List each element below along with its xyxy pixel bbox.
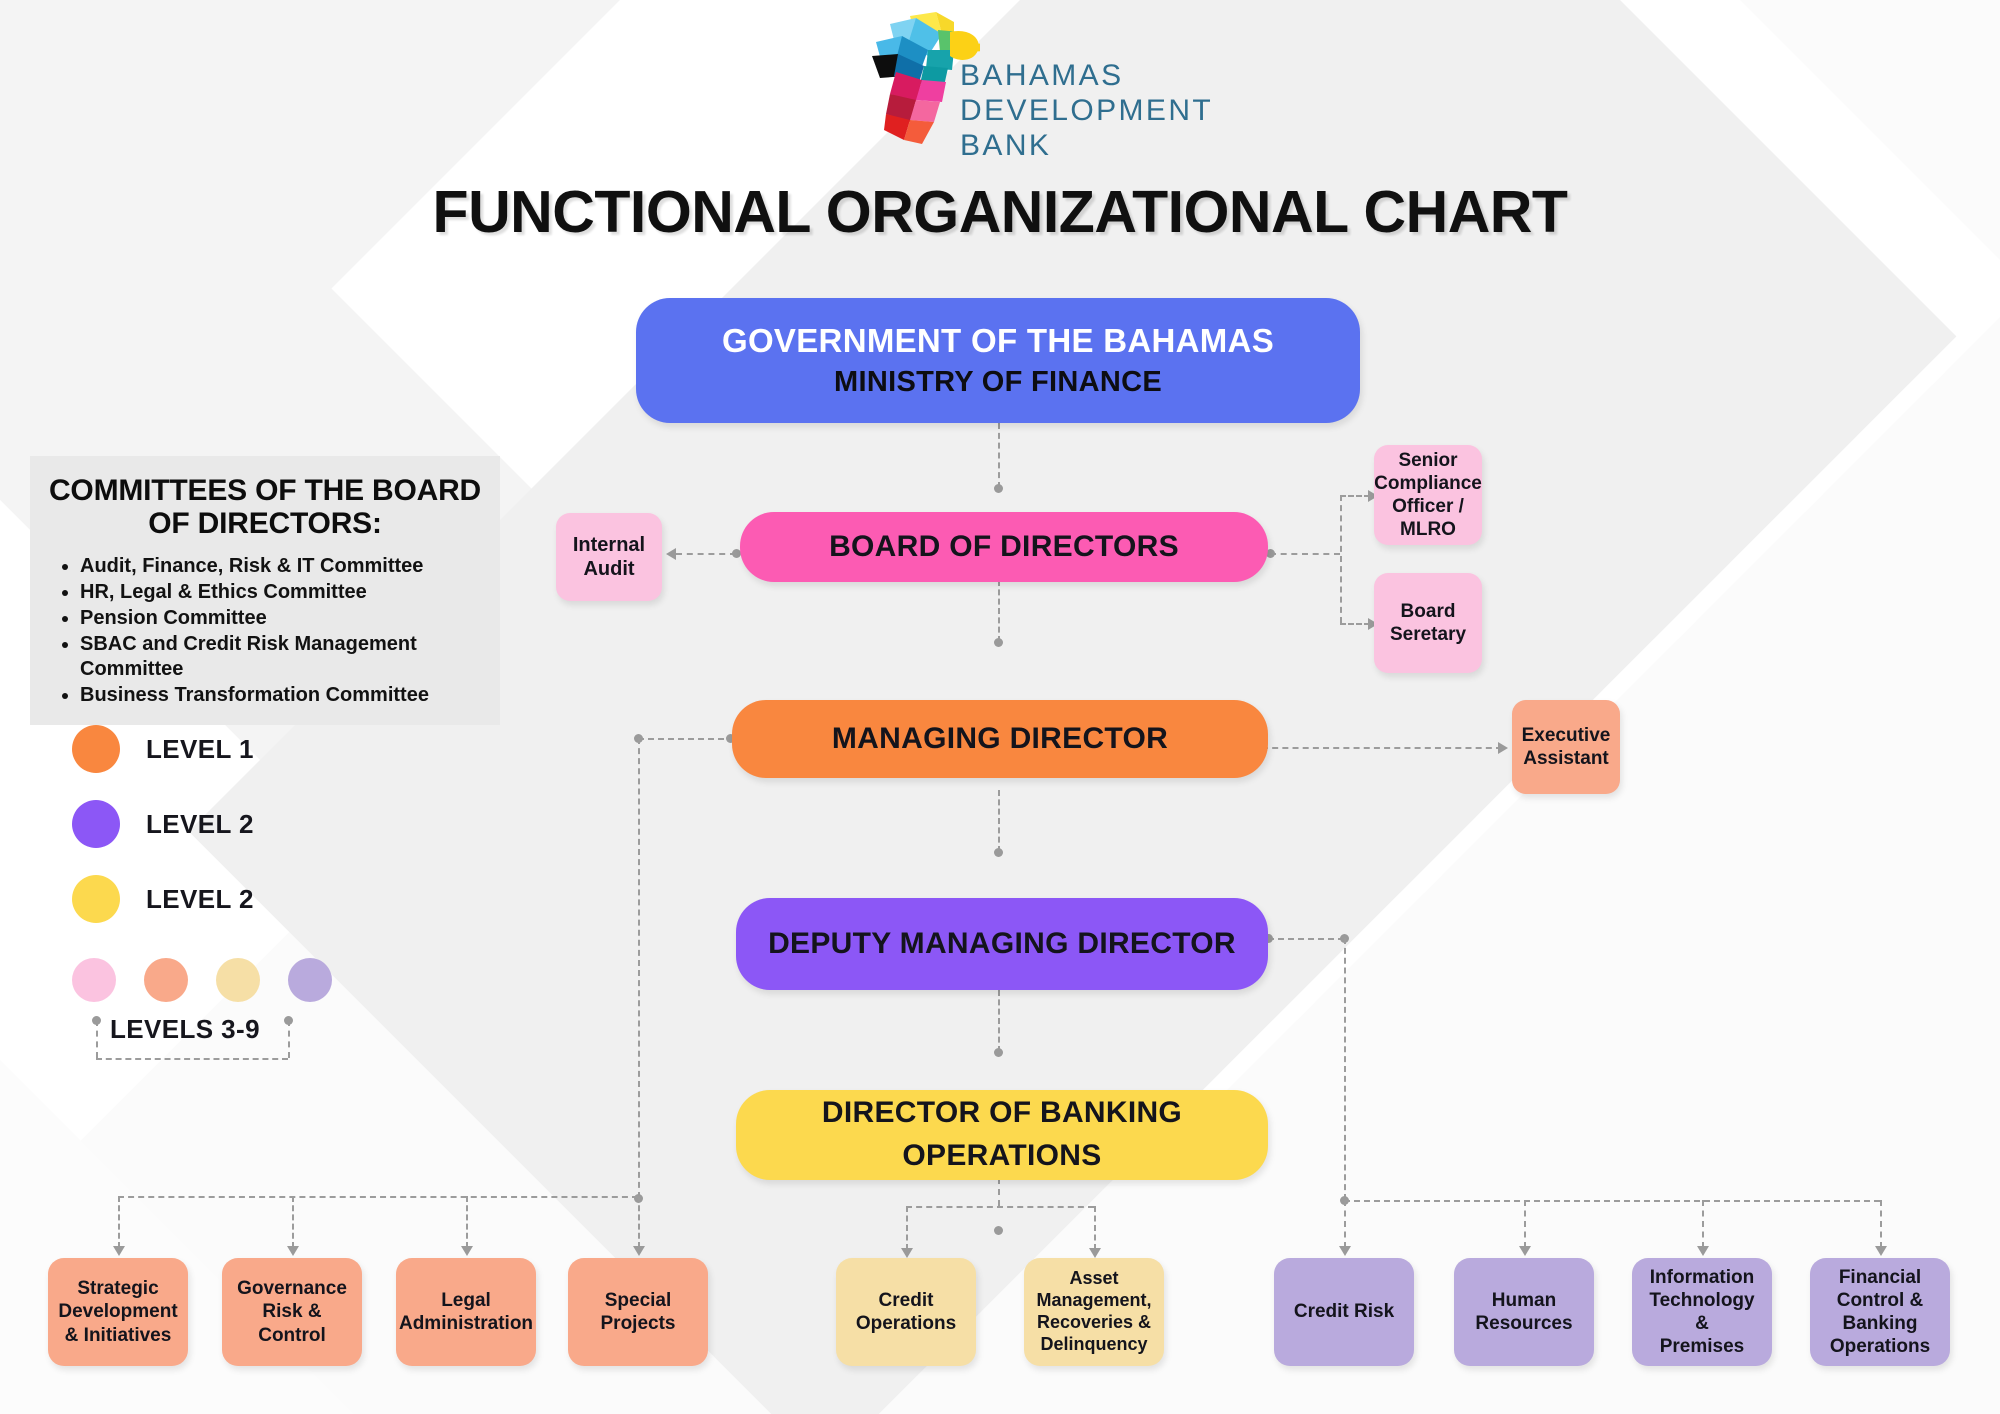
connector-orange-branch-3: [466, 1196, 468, 1248]
legend-row-levels-3-9-swatches: [72, 958, 332, 1002]
connector-dmd-right-stub: [1268, 938, 1344, 940]
dept-credit-operations[interactable]: Credit Operations: [836, 1258, 976, 1366]
dept-line: Resources: [1475, 1312, 1572, 1335]
connector-dot: [994, 1048, 1003, 1057]
node-board-secretary[interactable]: Board Seretary: [1374, 573, 1482, 673]
node-internal-audit-line-2: Audit: [583, 557, 634, 581]
dept-special-projects[interactable]: Special Projects: [568, 1258, 708, 1366]
dept-line: Banking: [1843, 1312, 1918, 1335]
node-board-secretary-line-2: Seretary: [1390, 623, 1466, 646]
list-item: Business Transformation Committee: [80, 683, 484, 708]
connector-purple-branch-3: [1702, 1200, 1704, 1248]
legend-swatch-level-1: [72, 725, 120, 773]
list-item: Audit, Finance, Risk & IT Committee: [80, 554, 484, 579]
levels-bracket-right: [288, 1020, 290, 1058]
connector-arrow: [633, 1246, 645, 1256]
dept-line: Governance: [237, 1277, 347, 1300]
connector-dbo-branch-2: [1094, 1206, 1096, 1250]
node-internal-audit[interactable]: Internal Audit: [556, 513, 662, 601]
legend-swatch-lilac: [288, 958, 332, 1002]
dept-governance-risk-control[interactable]: Governance Risk & Control: [222, 1258, 362, 1366]
dept-line: Credit Risk: [1294, 1300, 1394, 1323]
legend-swatch-level-2a: [72, 800, 120, 848]
connector-purple-bus: [1344, 1200, 1880, 1202]
dept-line: Asset: [1069, 1268, 1118, 1290]
dept-line: Projects: [601, 1312, 676, 1335]
node-senior-compliance-officer[interactable]: Senior Compliance Officer / MLRO: [1374, 445, 1482, 545]
node-internal-audit-line-1: Internal: [573, 533, 645, 557]
connector-board-right-stub: [1270, 553, 1340, 555]
node-dbo-line-2: OPERATIONS: [902, 1138, 1101, 1175]
connector-board-to-internal-audit: [676, 553, 736, 555]
connector-dbo-down: [998, 1178, 1000, 1206]
dept-line: Development: [58, 1300, 177, 1323]
connector-md-to-exec-assistant: [1262, 747, 1502, 749]
connector-orange-branch-2: [292, 1196, 294, 1248]
dept-line: & Initiatives: [65, 1324, 172, 1347]
node-dbo-line-1: DIRECTOR OF BANKING: [822, 1095, 1182, 1132]
node-board-secretary-line-1: Board: [1401, 600, 1456, 623]
dept-legal-administration[interactable]: Legal Administration: [396, 1258, 536, 1366]
connector-arrow: [287, 1246, 299, 1256]
connector-md-to-dmd: [998, 790, 1000, 852]
dept-line: Operations: [1830, 1335, 1930, 1358]
legend-label: LEVEL 2: [146, 884, 254, 915]
brand-logo: BAHAMAS DEVELOPMENT BANK: [850, 6, 1170, 146]
dept-line: Information: [1650, 1266, 1755, 1289]
connector-purple-branch-2: [1524, 1200, 1526, 1248]
dept-information-technology-premises[interactable]: Information Technology & Premises: [1632, 1258, 1772, 1366]
dept-line: Recoveries &: [1037, 1312, 1151, 1334]
dept-line: Financial: [1839, 1266, 1921, 1289]
connector-dbo-branch-1: [906, 1206, 908, 1250]
connector-arrow: [1089, 1248, 1101, 1258]
dept-line: Administration: [399, 1312, 533, 1335]
node-government-line-2: MINISTRY OF FINANCE: [834, 365, 1162, 400]
org-chart-canvas: BAHAMAS DEVELOPMENT BANK FUNCTIONAL ORGA…: [0, 0, 2000, 1414]
levels-bracket-bottom: [96, 1058, 288, 1060]
legend-label-levels-3-9: LEVELS 3-9: [110, 1014, 260, 1045]
node-exec-assistant-line-2: Assistant: [1523, 747, 1609, 770]
node-executive-assistant[interactable]: Executive Assistant: [1512, 700, 1620, 794]
brand-line-1: BAHAMAS: [960, 58, 1213, 93]
legend-row-level-1: LEVEL 1: [72, 725, 254, 773]
connector-md-left-stub: [638, 738, 734, 740]
connector-dmd-to-dbo: [998, 990, 1000, 1052]
connector-arrow: [461, 1246, 473, 1256]
connector-arrow: [1339, 1246, 1351, 1256]
legend-row-level-2b: LEVEL 2: [72, 875, 254, 923]
dept-strategic-development[interactable]: Strategic Development & Initiatives: [48, 1258, 188, 1366]
node-exec-assistant-line-1: Executive: [1522, 724, 1611, 747]
connector-md-left-vertical: [638, 738, 640, 1198]
dept-line: Control &: [1837, 1289, 1924, 1312]
node-compliance-line-1: Senior: [1398, 449, 1457, 472]
connector-to-board-secretary: [1340, 623, 1370, 625]
dept-line: Special: [605, 1289, 672, 1312]
connector-arrow: [1498, 742, 1508, 754]
dept-line: Delinquency: [1040, 1334, 1147, 1356]
dept-line: Risk & Control: [230, 1300, 354, 1346]
connector-to-compliance: [1340, 495, 1370, 497]
connector-purple-branch-1: [1344, 1200, 1346, 1248]
dept-line: Technology &: [1640, 1289, 1764, 1335]
legend-label: LEVEL 1: [146, 734, 254, 765]
connector-board-to-md: [998, 580, 1000, 642]
brand-line-3: BANK: [960, 128, 1213, 163]
list-item: HR, Legal & Ethics Committee: [80, 580, 484, 605]
dept-line: Management,: [1036, 1290, 1151, 1312]
connector-orange-branch-4: [638, 1196, 640, 1248]
legend-swatch-level-2b: [72, 875, 120, 923]
connector-arrow: [901, 1248, 913, 1258]
connector-arrow: [666, 548, 676, 560]
connector-dot: [994, 1226, 1003, 1235]
node-director-of-banking-operations[interactable]: DIRECTOR OF BANKING OPERATIONS: [736, 1090, 1268, 1180]
dept-human-resources[interactable]: Human Resources: [1454, 1258, 1594, 1366]
dept-line: Strategic: [77, 1277, 158, 1300]
levels-bracket-left: [96, 1020, 98, 1058]
node-government-of-the-bahamas[interactable]: GOVERNMENT OF THE BAHAMAS MINISTRY OF FI…: [636, 298, 1360, 423]
connector-dmd-right-vertical: [1344, 938, 1346, 1200]
connector-arrow: [113, 1246, 125, 1256]
connector-board-right-vertical: [1340, 495, 1342, 623]
node-board-of-directors[interactable]: BOARD OF DIRECTORS: [740, 512, 1268, 582]
dept-line: Legal: [441, 1289, 491, 1312]
connector-arrow: [1519, 1246, 1531, 1256]
dept-financial-control-banking-operations[interactable]: Financial Control & Banking Operations: [1810, 1258, 1950, 1366]
levels-bracket-dot-right: [284, 1016, 293, 1025]
connector-orange-bus: [118, 1196, 638, 1198]
list-item: SBAC and Credit Risk Management Committe…: [80, 632, 484, 682]
node-compliance-line-2: Compliance: [1374, 472, 1482, 495]
legend-swatch-salmon: [144, 958, 188, 1002]
page-title: FUNCTIONAL ORGANIZATIONAL CHART: [0, 178, 2000, 246]
connector-dbo-bus: [906, 1206, 1094, 1208]
connector-arrow: [1697, 1246, 1709, 1256]
dept-line: Premises: [1660, 1335, 1745, 1358]
brand-name: BAHAMAS DEVELOPMENT BANK: [960, 58, 1213, 163]
dept-line: Operations: [856, 1312, 956, 1335]
connector-dot: [994, 638, 1003, 647]
dept-line: Human: [1492, 1289, 1556, 1312]
connector-orange-branch-1: [118, 1196, 120, 1248]
connector-arrow: [1875, 1246, 1887, 1256]
dept-line: Credit: [879, 1289, 934, 1312]
committees-list: Audit, Finance, Risk & IT Committee HR, …: [46, 554, 484, 708]
dept-credit-risk[interactable]: Credit Risk: [1274, 1258, 1414, 1366]
connector-gov-to-board: [998, 423, 1000, 488]
connector-dot: [994, 484, 1003, 493]
legend-label: LEVEL 2: [146, 809, 254, 840]
node-deputy-managing-director[interactable]: DEPUTY MANAGING DIRECTOR: [736, 898, 1268, 990]
committees-panel: COMMITTEES OF THE BOARD OF DIRECTORS: Au…: [30, 456, 500, 725]
legend-swatch-pink: [72, 958, 116, 1002]
committees-heading: COMMITTEES OF THE BOARD OF DIRECTORS:: [46, 474, 484, 540]
levels-bracket-dot-left: [92, 1016, 101, 1025]
connector-dot: [994, 848, 1003, 857]
legend-row-level-2a: LEVEL 2: [72, 800, 254, 848]
dept-asset-management[interactable]: Asset Management, Recoveries & Delinquen…: [1024, 1258, 1164, 1366]
legend-swatch-sand: [216, 958, 260, 1002]
list-item: Pension Committee: [80, 606, 484, 631]
node-compliance-line-3: Officer /: [1392, 495, 1464, 518]
node-managing-director[interactable]: MANAGING DIRECTOR: [732, 700, 1268, 778]
connector-purple-branch-4: [1880, 1200, 1882, 1248]
brand-line-2: DEVELOPMENT: [960, 93, 1213, 128]
node-government-line-1: GOVERNMENT OF THE BAHAMAS: [722, 321, 1274, 361]
node-compliance-line-4: MLRO: [1400, 518, 1456, 541]
